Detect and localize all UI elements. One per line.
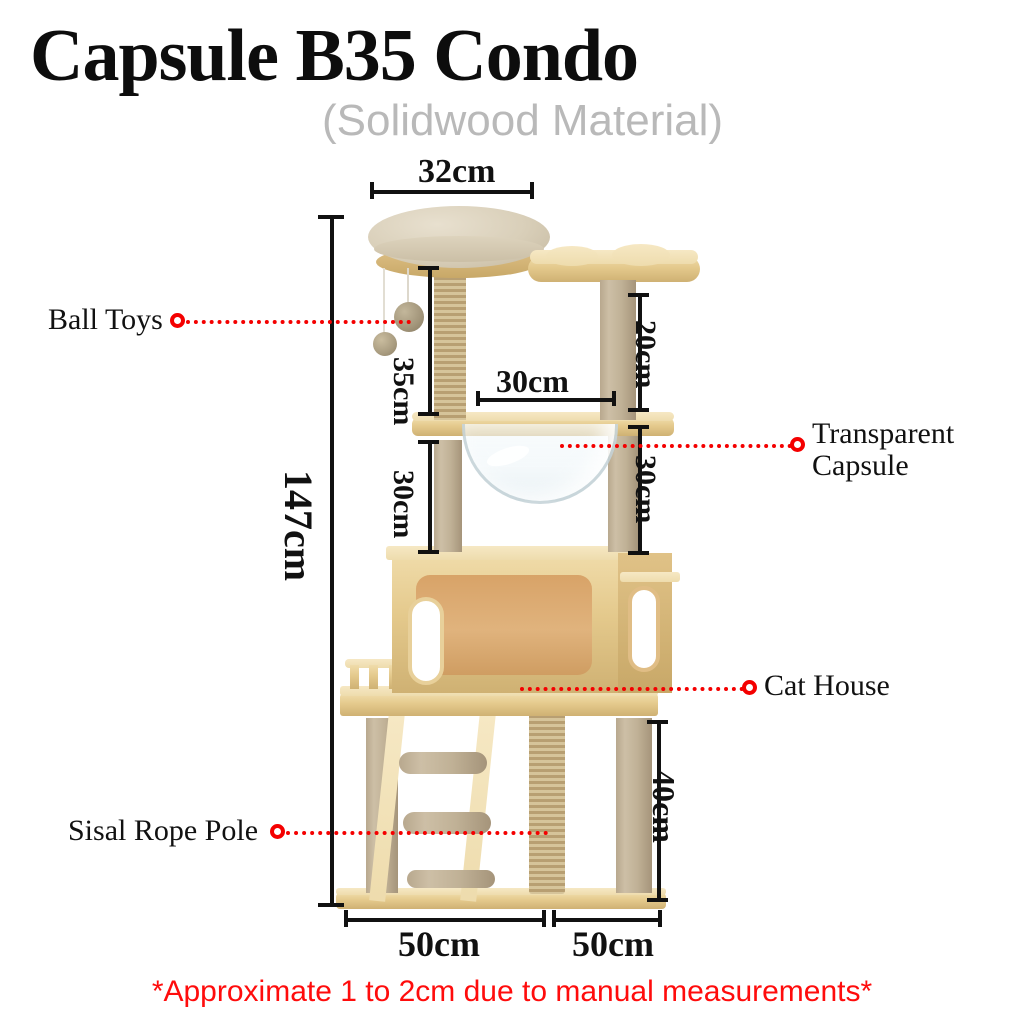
dim-line-50cm-left: [344, 918, 544, 922]
dim-line-50cm-right: [552, 918, 662, 922]
dim-label-147cm: 147cm: [275, 470, 322, 581]
dim-tick: [476, 391, 480, 406]
hanging-ball-toy: [394, 302, 424, 332]
dim-tick: [552, 910, 556, 927]
callout-label-line1: Transparent: [812, 418, 954, 450]
cat-tree-illustration: [0, 0, 1024, 1024]
callout-marker-sisal-rope-pole: [270, 824, 285, 839]
dim-tick: [418, 412, 439, 416]
callout-marker-ball-toys: [170, 313, 185, 328]
dim-tick: [628, 293, 649, 297]
dim-tick: [318, 215, 344, 219]
callout-label-line2: Capsule: [812, 450, 954, 482]
railing-left-post: [369, 665, 378, 689]
callout-label-cat-house: Cat House: [764, 670, 890, 702]
cat-house-opening-left: [408, 597, 444, 685]
top-plush-bed-rim: [374, 236, 544, 262]
lower-platform: [340, 694, 658, 716]
dim-line-147cm: [330, 215, 334, 905]
dim-tick: [628, 425, 649, 429]
cloud-platform-lobe: [546, 246, 598, 266]
dim-tick: [628, 551, 649, 555]
mid-post-left: [434, 440, 462, 552]
dim-line-30cm-left: [428, 440, 432, 552]
dim-label-30cm-right: 30cm: [628, 455, 662, 523]
dim-tick: [647, 898, 668, 902]
dim-label-40cm: 40cm: [645, 770, 682, 843]
callout-leader-cat-house: [520, 687, 744, 691]
dim-label-50cm-left: 50cm: [398, 923, 480, 965]
callout-label-transparent-capsule: Transparent Capsule: [812, 418, 954, 483]
cat-house-side-shelf: [620, 572, 680, 582]
callout-label-ball-toys: Ball Toys: [48, 304, 163, 336]
ladder-rung: [399, 752, 487, 774]
dim-label-35cm: 35cm: [386, 357, 420, 425]
dim-tick: [418, 266, 439, 270]
ball-toy-string: [407, 268, 409, 304]
dim-label-32cm: 32cm: [418, 153, 495, 191]
ball-toy-string-2: [383, 268, 385, 334]
dim-tick: [344, 910, 348, 927]
dim-label-20cm: 20cm: [628, 320, 662, 388]
transparent-capsule-dome: [462, 424, 618, 504]
hanging-ball-toy-2: [373, 332, 397, 356]
upper-rope-post: [434, 268, 466, 420]
footnote-text: *Approximate 1 to 2cm due to manual meas…: [0, 975, 1024, 1009]
dim-label-30cm-left: 30cm: [386, 470, 420, 538]
dim-tick: [542, 910, 546, 927]
callout-marker-transparent-capsule: [790, 437, 805, 452]
dim-tick: [530, 182, 534, 199]
callout-leader-transparent-capsule: [560, 444, 792, 448]
dim-tick: [658, 910, 662, 927]
railing-left-post: [350, 665, 359, 689]
callout-leader-sisal-rope-pole: [286, 831, 548, 835]
callout-marker-cat-house: [742, 680, 757, 695]
cat-house-opening-right: [628, 586, 660, 672]
dim-tick: [418, 550, 439, 554]
dim-label-50cm-right: 50cm: [572, 923, 654, 965]
dim-tick: [318, 903, 344, 907]
dim-tick: [628, 408, 649, 412]
dim-tick: [370, 182, 374, 199]
ladder-rung: [407, 870, 495, 888]
dim-tick: [418, 440, 439, 444]
sisal-rope-pole: [529, 712, 565, 894]
callout-label-sisal-rope-pole: Sisal Rope Pole: [68, 815, 258, 847]
callout-leader-ball-toys: [186, 320, 411, 324]
cloud-platform-lobe: [612, 244, 670, 266]
dim-tick: [647, 720, 668, 724]
dim-tick: [612, 391, 616, 406]
dim-line-35cm: [428, 266, 432, 414]
dim-label-30cm-capsule: 30cm: [496, 363, 569, 400]
product-diagram-page: Capsule B35 Condo (Solidwood Material): [0, 0, 1024, 1024]
